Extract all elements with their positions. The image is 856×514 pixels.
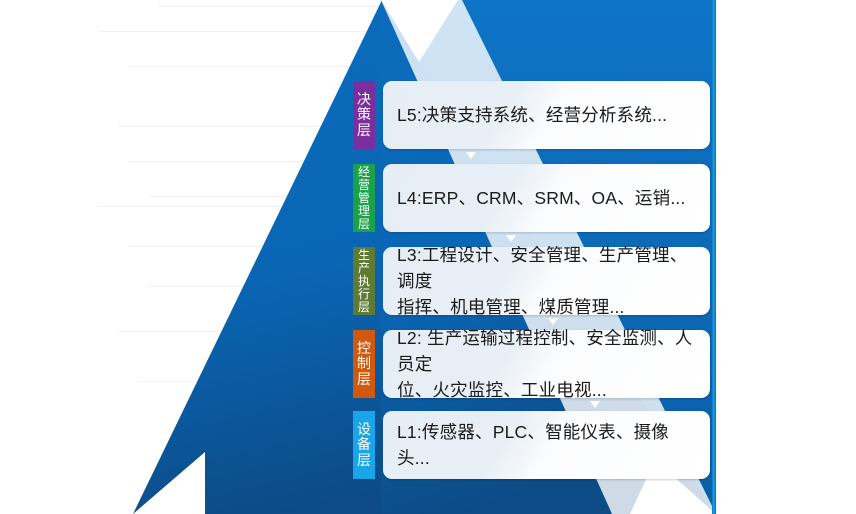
layer-tag-l2: 控 制 层	[353, 330, 375, 398]
chevron-down-icon	[506, 235, 516, 242]
layer-text-l1: L1:传感器、PLC、智能仪表、摄像头...	[397, 419, 696, 471]
chevron-down-icon	[466, 152, 476, 159]
layer-box-l1[interactable]: L1:传感器、PLC、智能仪表、摄像头...	[383, 411, 710, 479]
tag-char: 备	[357, 437, 371, 453]
tag-char: 设	[357, 422, 371, 438]
tag-char: 产	[358, 262, 370, 275]
layer-tag-l1: 设 备 层	[353, 411, 375, 479]
tag-char: 决	[357, 92, 371, 108]
tag-char: 层	[357, 123, 371, 139]
layer-box-l5[interactable]: L5:决策支持系统、经营分析系统...	[383, 81, 710, 149]
layer-line: 位、火灾监控、工业电视...	[397, 377, 696, 403]
tag-char: 营	[358, 179, 370, 192]
tag-char: 层	[357, 453, 371, 469]
layer-tag-l4: 经 营 管 理 层	[353, 164, 375, 232]
layer-line: L4:ERP、CRM、SRM、OA、运销...	[397, 185, 686, 211]
diagram-canvas: 决 策 层 L5:决策支持系统、经营分析系统... 经 营 管 理 层 L4:E…	[0, 0, 856, 514]
tag-char: 行	[358, 288, 370, 301]
right-edge-strip	[712, 0, 716, 514]
layer-row-l3[interactable]: 生 产 执 行 层 L3:工程设计、安全管理、生产管理、调度 指挥、机电管理、煤…	[353, 247, 710, 315]
layer-line: L3:工程设计、安全管理、生产管理、调度	[397, 242, 696, 294]
chevron-down-icon	[548, 318, 558, 325]
layer-tag-l5: 决 策 层	[353, 81, 375, 149]
layer-text-l5: L5:决策支持系统、经营分析系统...	[397, 102, 667, 128]
layer-row-l4[interactable]: 经 营 管 理 层 L4:ERP、CRM、SRM、OA、运销...	[353, 164, 710, 232]
tag-char: 层	[357, 372, 371, 388]
layer-text-l3: L3:工程设计、安全管理、生产管理、调度 指挥、机电管理、煤质管理...	[397, 242, 696, 320]
layer-line: L5:决策支持系统、经营分析系统...	[397, 102, 667, 128]
layer-box-l3[interactable]: L3:工程设计、安全管理、生产管理、调度 指挥、机电管理、煤质管理...	[383, 247, 710, 315]
tag-char: 管	[358, 192, 370, 205]
tag-char: 经	[358, 166, 370, 179]
layer-tag-l3: 生 产 执 行 层	[353, 247, 375, 315]
tag-char: 策	[357, 107, 371, 123]
layer-line: L1:传感器、PLC、智能仪表、摄像头...	[397, 419, 696, 471]
layer-line: L2: 生产运输过程控制、安全监测、人员定	[397, 325, 696, 377]
layer-line: 指挥、机电管理、煤质管理...	[397, 294, 696, 320]
tag-char: 层	[358, 301, 370, 314]
tag-char: 生	[358, 249, 370, 262]
layer-row-l5[interactable]: 决 策 层 L5:决策支持系统、经营分析系统...	[353, 81, 710, 149]
layer-box-l2[interactable]: L2: 生产运输过程控制、安全监测、人员定 位、火灾监控、工业电视...	[383, 330, 710, 398]
tag-char: 控	[357, 341, 371, 357]
layer-row-l2[interactable]: 控 制 层 L2: 生产运输过程控制、安全监测、人员定 位、火灾监控、工业电视.…	[353, 330, 710, 398]
layer-text-l4: L4:ERP、CRM、SRM、OA、运销...	[397, 185, 686, 211]
layer-text-l2: L2: 生产运输过程控制、安全监测、人员定 位、火灾监控、工业电视...	[397, 325, 696, 403]
chevron-down-icon	[590, 401, 600, 408]
layer-box-l4[interactable]: L4:ERP、CRM、SRM、OA、运销...	[383, 164, 710, 232]
tag-char: 制	[357, 356, 371, 372]
tag-char: 执	[358, 275, 370, 288]
tag-char: 理	[358, 205, 370, 218]
layer-row-l1[interactable]: 设 备 层 L1:传感器、PLC、智能仪表、摄像头...	[353, 411, 710, 479]
tag-char: 层	[358, 218, 370, 231]
